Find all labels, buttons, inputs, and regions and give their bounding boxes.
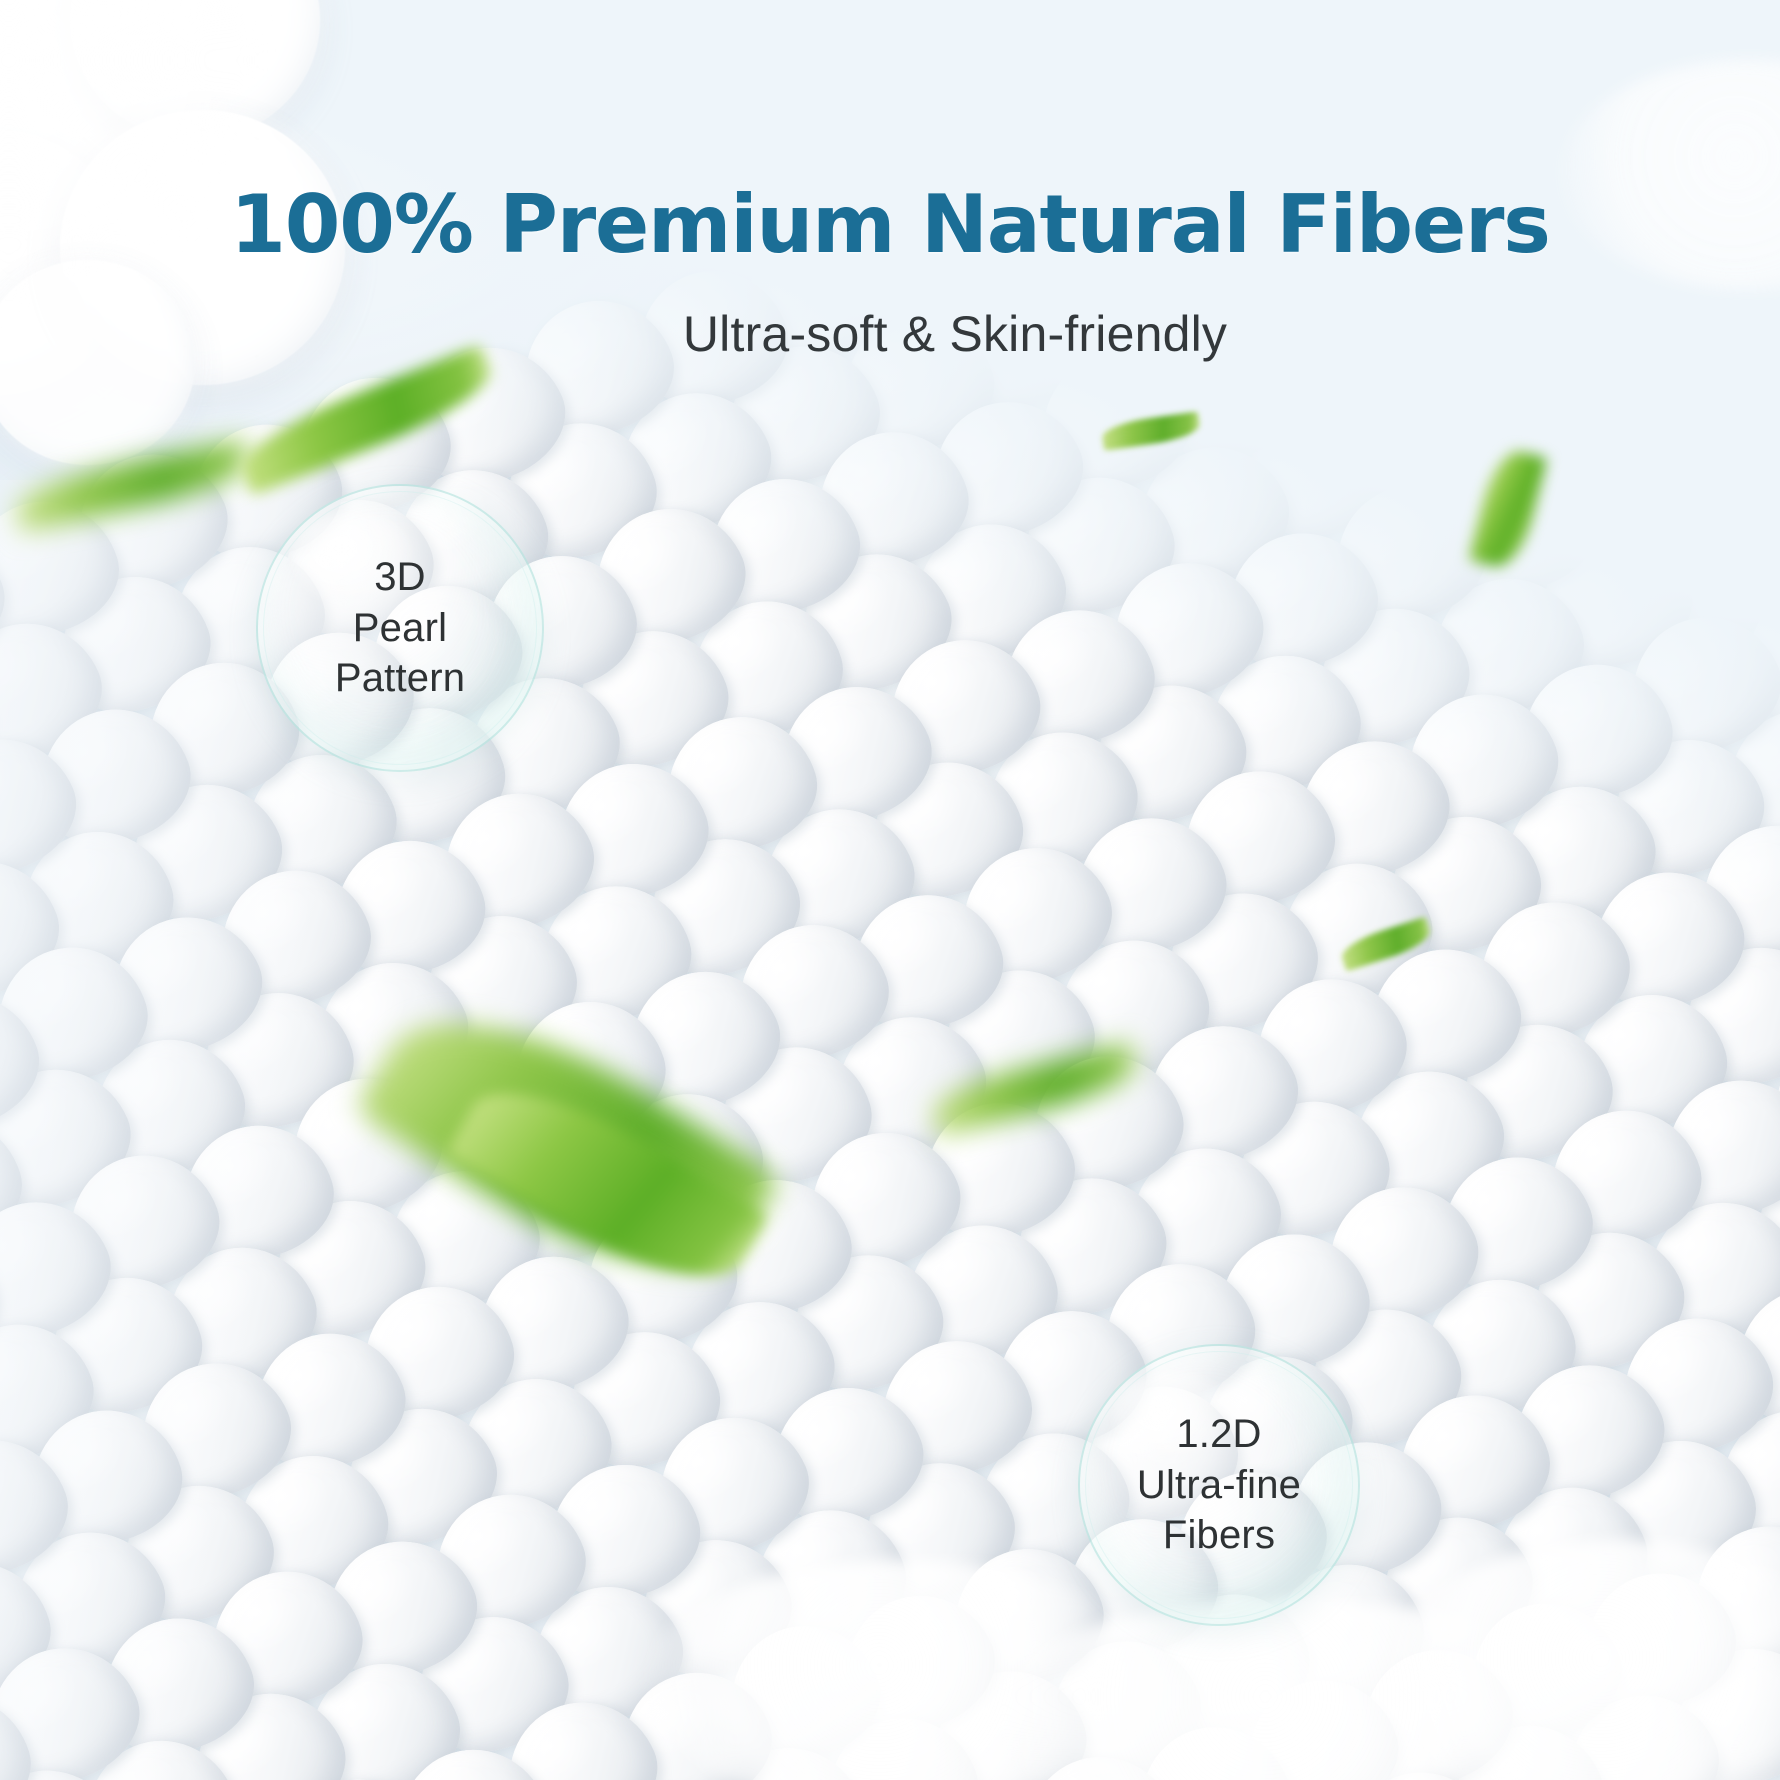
callout-line: Pattern [335, 653, 465, 703]
callout-bubble-pearl-label: 3D Pearl Pattern [335, 552, 465, 703]
callout-line: Fibers [1137, 1510, 1301, 1560]
callout-bubble-pearl[interactable]: 3D Pearl Pattern [256, 484, 544, 772]
callout-bubble-fiber[interactable]: 1.2D Ultra-fine Fibers [1078, 1344, 1360, 1626]
banner-stage: 100% Premium Natural Fibers Ultra-soft &… [0, 0, 1780, 1780]
callout-line: Ultra-fine [1137, 1460, 1301, 1510]
page-subtitle: Ultra-soft & Skin-friendly [0, 305, 1780, 363]
callout-bubble-fiber-label: 1.2D Ultra-fine Fibers [1137, 1409, 1301, 1560]
callout-line: Pearl [335, 603, 465, 653]
callout-line: 3D [335, 552, 465, 602]
page-title: 100% Premium Natural Fibers [0, 178, 1780, 271]
callout-line: 1.2D [1137, 1409, 1301, 1459]
